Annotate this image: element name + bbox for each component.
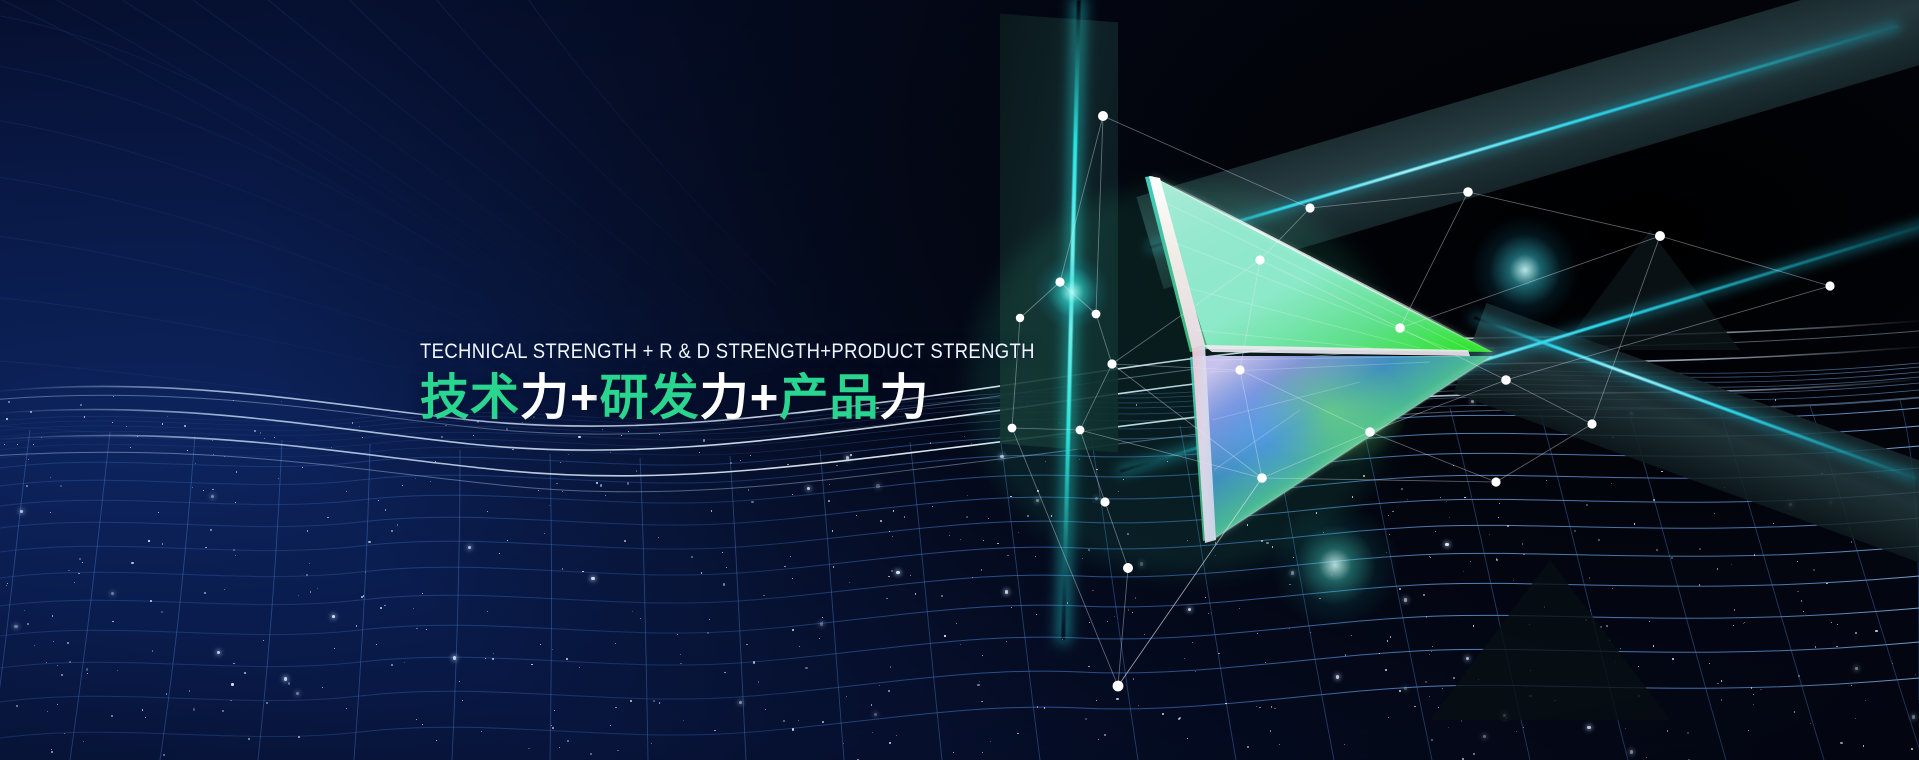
headline-seg-4: 力 [700,371,750,425]
headline-block: TECHNICAL STRENGTH + R & D STRENGTH+PROD… [420,340,1119,427]
headline-seg-0: 技术 [420,371,520,425]
page-title: 技术力+研发力+产品力 [420,371,1119,427]
headline-seg-3: 研发 [600,371,700,425]
hero-banner: TECHNICAL STRENGTH + R & D STRENGTH+PROD… [0,0,1919,760]
headline-seg-7: 力 [879,371,929,425]
eyebrow-text: TECHNICAL STRENGTH + R & D STRENGTH+PROD… [420,340,1035,364]
headline-seg-2: + [570,371,600,425]
headline-seg-1: 力 [520,371,570,425]
headline-seg-5: + [750,371,780,425]
headline-seg-6: 产品 [779,371,879,425]
